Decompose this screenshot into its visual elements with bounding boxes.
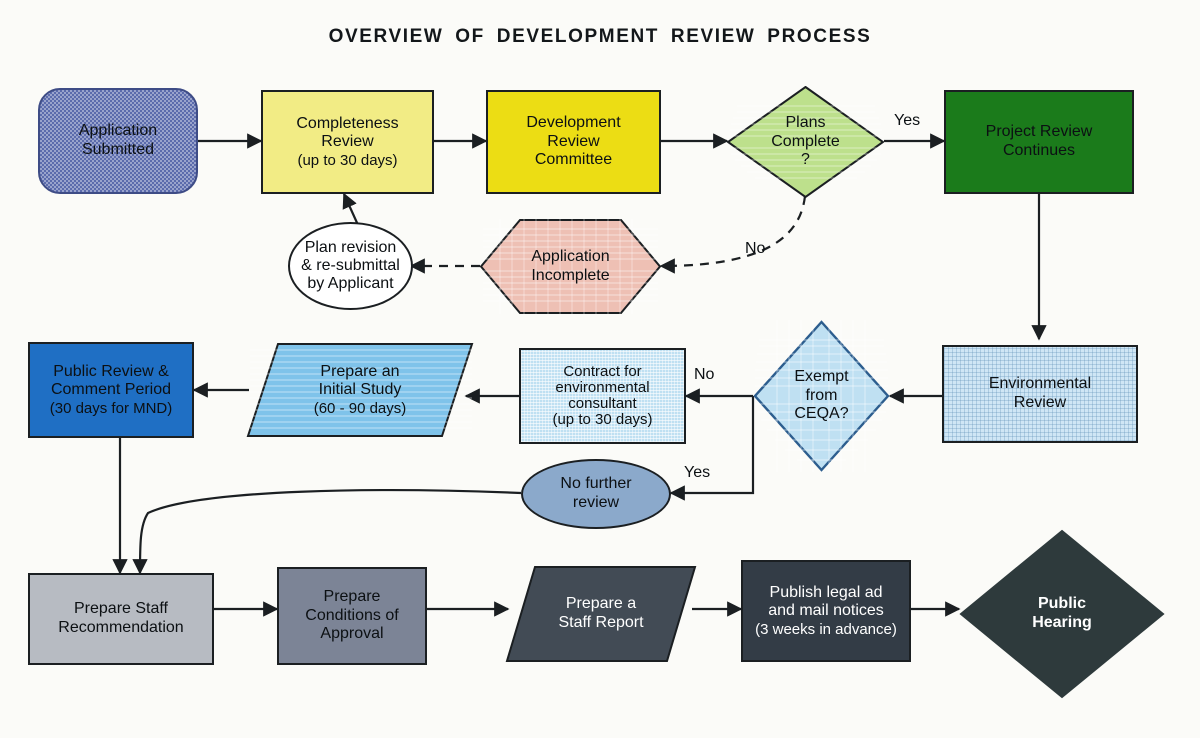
- node-plan-revision-line-2: by Applicant: [301, 275, 400, 293]
- node-publish-legal-ad[interactable]: Publish legal ad and mail notices (3 wee…: [741, 560, 911, 662]
- node-environmental-review[interactable]: Environmental Review: [942, 345, 1138, 443]
- node-prepare-initial-study-line-1: Initial Study: [314, 381, 407, 400]
- node-prepare-initial-study-line-0: Prepare an: [314, 363, 407, 382]
- node-exempt-ceqa-line-0: Exempt: [794, 368, 848, 387]
- node-public-review-note: (30 days for MND): [50, 400, 173, 417]
- node-prepare-conditions[interactable]: Prepare Conditions of Approval: [277, 567, 427, 665]
- node-plans-complete-line-2: ?: [771, 151, 839, 170]
- node-no-further-review-line-0: No further: [560, 475, 631, 494]
- node-contract-line-2: consultant: [552, 396, 652, 412]
- edge-plan-revision-to-completeness: [344, 194, 358, 225]
- node-application-submitted[interactable]: Application Submitted: [38, 88, 198, 194]
- edge-label-plans-no: No: [745, 240, 765, 258]
- edge-no-further-to-staff-rec: [140, 490, 521, 573]
- node-project-review-line-1: Continues: [986, 142, 1093, 161]
- node-plan-revision-line-0: Plan revision: [301, 239, 400, 257]
- node-completeness-review-line-0: Completeness: [296, 115, 398, 134]
- node-application-submitted-line-0: Application: [79, 122, 157, 141]
- node-public-hearing[interactable]: Public Hearing: [959, 529, 1165, 699]
- node-project-review-line-0: Project Review: [986, 123, 1093, 142]
- node-contract-line-1: environmental: [552, 380, 652, 396]
- node-publish-line-1: and mail notices: [755, 602, 897, 621]
- node-public-review-line-0: Public Review &: [50, 363, 173, 382]
- node-plans-complete-line-1: Complete: [771, 133, 839, 152]
- edge-plans-no-to-incomplete: [661, 196, 805, 266]
- node-no-further-review[interactable]: No further review: [521, 459, 671, 529]
- node-public-review-line-1: Comment Period: [50, 381, 173, 400]
- node-application-incomplete-line-1: Incomplete: [531, 267, 609, 286]
- node-plan-revision-body[interactable]: Plan revision & re-submittal by Applican…: [288, 222, 413, 310]
- node-contract-note: (up to 30 days): [552, 412, 652, 428]
- node-application-incomplete[interactable]: Application Incomplete: [480, 219, 661, 314]
- node-staff-report-line-0: Prepare a: [558, 595, 643, 614]
- node-contract-line-0: Contract for: [552, 364, 652, 380]
- node-exempt-ceqa-line-1: from: [794, 387, 848, 406]
- node-environmental-review-line-0: Environmental: [989, 375, 1091, 394]
- node-application-incomplete-line-0: Application: [531, 248, 609, 267]
- node-completeness-review-line-1: Review: [296, 133, 398, 152]
- edge-label-plans-yes: Yes: [894, 112, 920, 130]
- node-conditions-line-0: Prepare: [305, 588, 398, 607]
- flowchart-canvas: OVERVIEW OF DEVELOPMENT REVIEW PROCESS A…: [0, 0, 1200, 738]
- edge-label-exempt-yes: Yes: [684, 464, 710, 482]
- node-prepare-initial-study[interactable]: Prepare an Initial Study (60 - 90 days): [246, 342, 474, 438]
- node-plans-complete[interactable]: Plans Complete ?: [727, 86, 884, 198]
- node-environmental-review-line-1: Review: [989, 394, 1091, 413]
- node-conditions-line-1: Conditions of: [305, 607, 398, 626]
- node-drc-line-2: Committee: [526, 151, 620, 170]
- node-plan-revision-line-1: & re-submittal: [301, 257, 400, 275]
- node-drc-line-0: Development: [526, 114, 620, 133]
- node-development-review-committee[interactable]: Development Review Committee: [486, 90, 661, 194]
- node-publish-note: (3 weeks in advance): [755, 621, 897, 638]
- node-project-review-continues[interactable]: Project Review Continues: [944, 90, 1134, 194]
- node-public-hearing-line-0: Public: [1032, 595, 1092, 614]
- node-completeness-review[interactable]: Completeness Review (up to 30 days): [261, 90, 434, 194]
- node-prepare-staff-recommendation[interactable]: Prepare Staff Recommendation: [28, 573, 214, 665]
- edge-label-exempt-no: No: [694, 366, 714, 384]
- node-publish-line-0: Publish legal ad: [755, 584, 897, 603]
- node-public-review-comment[interactable]: Public Review & Comment Period (30 days …: [28, 342, 194, 438]
- node-exempt-ceqa-line-2: CEQA?: [794, 405, 848, 424]
- node-no-further-review-line-1: review: [560, 494, 631, 513]
- node-staff-report-line-1: Staff Report: [558, 614, 643, 633]
- node-exempt-ceqa[interactable]: Exempt from CEQA?: [753, 320, 890, 472]
- node-completeness-review-note: (up to 30 days): [296, 152, 398, 169]
- node-contract-environmental[interactable]: Contract for environmental consultant (u…: [519, 348, 686, 444]
- node-conditions-line-2: Approval: [305, 625, 398, 644]
- node-prepare-staff-report[interactable]: Prepare a Staff Report: [505, 565, 697, 663]
- node-staff-rec-line-1: Recommendation: [58, 619, 183, 638]
- node-plans-complete-line-0: Plans: [771, 114, 839, 133]
- node-prepare-initial-study-note: (60 - 90 days): [314, 400, 407, 417]
- node-application-submitted-line-1: Submitted: [79, 141, 157, 160]
- node-staff-rec-line-0: Prepare Staff: [58, 600, 183, 619]
- node-public-hearing-line-1: Hearing: [1032, 614, 1092, 633]
- node-drc-line-1: Review: [526, 133, 620, 152]
